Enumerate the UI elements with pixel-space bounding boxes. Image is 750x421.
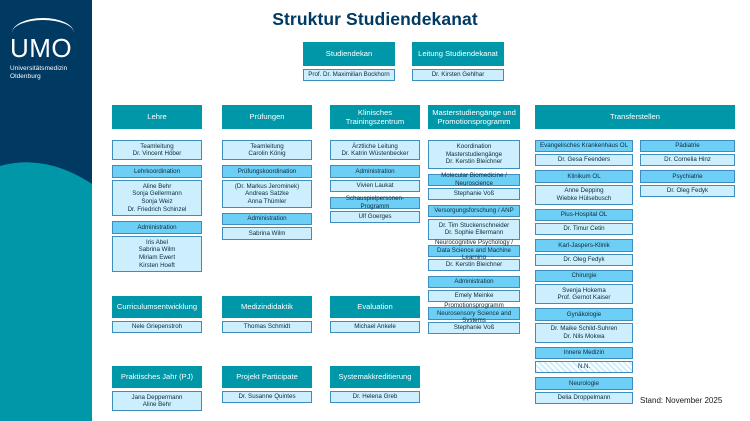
- transfer-left-9-label: Svenja Hokema Prof. Gernot Kaiser: [556, 287, 613, 302]
- logo-wordmark: UMO: [10, 35, 90, 62]
- transfer-left-12-label: Innere Medizin: [562, 349, 607, 357]
- transfer-left-2: Klinikum OL: [535, 170, 633, 182]
- col1-name-0: Teamleitung Carolin König: [222, 140, 312, 160]
- col3-name-2-label: Stephanie Voß: [452, 190, 497, 198]
- page-title: Struktur Studiendekanat: [0, 9, 750, 30]
- transfer-head-label: Transferstellen: [608, 112, 662, 121]
- col1-role-1-label: Prüfungskoordination: [236, 168, 298, 176]
- col1-section-name-1-label: Dr. Susanne Quintes: [236, 393, 297, 401]
- col3-role-3-label: Versorgungsforschung / ANP: [432, 207, 515, 215]
- transfer-right-3: Dr. Oleg Fedyk: [640, 185, 735, 197]
- col3-name-0: Koordination Masterstudiengänge Dr. Kers…: [428, 140, 520, 169]
- top-head-1: Leitung Studiendekanat: [412, 42, 504, 66]
- col3-role-3: Versorgungsforschung / ANP: [428, 205, 520, 217]
- transfer-left-11-label: Dr. Maike Schild-Suhren Dr. Nils Mokwa: [549, 325, 620, 340]
- col2-name-2: Vivien Laukat: [330, 180, 420, 192]
- col3-name-4-label: Dr. Tim Stuckenschneider Dr. Sophie Elle…: [437, 222, 512, 237]
- col2-name-0-label: Ärztliche Leitung Dr. Katrin Wüstenbecke…: [339, 143, 410, 158]
- transfer-left-6: Karl-Jaspers-Klinik: [535, 239, 633, 251]
- column-head-1: Prüfungen: [222, 105, 312, 129]
- brand-sidebar: UMO Universitätsmedizin Oldenburg: [0, 0, 92, 421]
- transfer-head: Transferstellen: [535, 105, 735, 129]
- col1-section-head-0-label: Medizindidaktik: [239, 302, 295, 311]
- transfer-left-5-label: Dr. Timur Cetin: [561, 225, 606, 233]
- col3-name-4: Dr. Tim Stuckenschneider Dr. Sophie Elle…: [428, 219, 520, 239]
- col2-section-head-0: Evaluation: [330, 296, 420, 318]
- col2-name-4: Ulf Goerges: [330, 211, 420, 223]
- col0-name-2: Aline Behr Sonja Gellermann Sonja Weiz D…: [112, 180, 202, 217]
- transfer-left-13: N.N.: [535, 361, 633, 373]
- col3-name-10-label: Stephanie Voß: [452, 324, 497, 332]
- column-head-1-label: Prüfungen: [247, 112, 286, 121]
- transfer-left-0-label: Evangelisches Krankenhaus OL: [538, 142, 630, 150]
- col2-role-1-label: Administration: [353, 168, 396, 176]
- col1-section-head-1: Projekt Participate: [222, 366, 312, 388]
- col0-role-1-label: Lehrkoordination: [132, 168, 182, 176]
- col1-role-1: Prüfungskoordination: [222, 165, 312, 177]
- col3-name-8: Emely Meinke: [428, 290, 520, 302]
- transfer-left-1-label: Dr. Gesa Feenders: [556, 156, 612, 164]
- col1-section-name-1: Dr. Susanne Quintes: [222, 391, 312, 403]
- transfer-left-15-label: Delia Droppelmann: [556, 394, 613, 402]
- col3-role-7: Administration: [428, 276, 520, 288]
- transfer-right-2: Psychiatrie: [640, 170, 735, 182]
- column-head-3-label: Masterstudiengänge und Promotionsprogram…: [428, 108, 520, 127]
- transfer-left-10: Gynäkologie: [535, 308, 633, 320]
- col0-name-4: Iris Abel Sabrina Wilm Miriam Ewert Kirs…: [112, 236, 202, 273]
- col3-role-5: Neurocognitive Psychology / Data Science…: [428, 245, 520, 257]
- col2-section-name-1-label: Dr. Helena Greb: [351, 393, 400, 401]
- transfer-right-3-label: Dr. Oleg Fedyk: [665, 187, 710, 195]
- column-head-0: Lehre: [112, 105, 202, 129]
- col0-section-name-1: Jana Deppermann Aline Behr: [112, 391, 202, 411]
- transfer-left-7: Dr. Oleg Fedyk: [535, 254, 633, 266]
- col2-role-1: Administration: [330, 165, 420, 177]
- col2-section-head-1-label: Systemakkreditierung: [336, 372, 413, 381]
- col3-role-1: Molecular Biomedicine / Neuroscience: [428, 174, 520, 186]
- sidebar-curve-decoration: [0, 140, 92, 421]
- col2-role-3-label: Schauspielpersonen-Programm: [331, 195, 419, 210]
- transfer-left-7-label: Dr. Oleg Fedyk: [561, 256, 606, 264]
- logo-subtitle-line1: Universitätsmedizin: [10, 65, 90, 73]
- col2-role-3: Schauspielpersonen-Programm: [330, 197, 420, 209]
- column-head-2: Klinisches Trainingszentrum: [330, 105, 420, 129]
- col2-name-2-label: Vivien Laukat: [354, 182, 395, 190]
- col0-name-0: Teamleitung Dr. Vincent Höber: [112, 140, 202, 160]
- col2-name-4-label: Ulf Goerges: [356, 213, 393, 221]
- transfer-left-3-label: Anne Depping Wiebke Hülsebusch: [555, 187, 614, 202]
- col3-name-10: Stephanie Voß: [428, 322, 520, 334]
- top-name-1: Dr. Kirsten Gehlhar: [412, 69, 504, 81]
- transfer-left-12: Innere Medizin: [535, 347, 633, 359]
- col0-section-name-1-label: Jana Deppermann Aline Behr: [130, 394, 185, 409]
- transfer-left-11: Dr. Maike Schild-Suhren Dr. Nils Mokwa: [535, 323, 633, 343]
- column-head-3: Masterstudiengänge und Promotionsprogram…: [428, 105, 520, 129]
- top-name-0: Prof. Dr. Maximilian Bockhorn: [303, 69, 395, 81]
- transfer-right-0: Pädiatrie: [640, 140, 735, 152]
- transfer-right-2-label: Psychiatrie: [670, 173, 704, 181]
- col2-section-name-0-label: Michael Ankele: [352, 323, 398, 331]
- col1-role-3-label: Administration: [245, 215, 288, 223]
- col3-name-6-label: Dr. Kerstin Bleichner: [444, 261, 504, 269]
- transfer-left-0: Evangelisches Krankenhaus OL: [535, 140, 633, 152]
- col1-name-2: (Dr. Markus Jerominek) Andreas Satzke An…: [222, 180, 312, 209]
- top-head-0-label: Studiendekan: [324, 49, 374, 58]
- col2-section-name-0: Michael Ankele: [330, 321, 420, 333]
- transfer-left-8-label: Chirurgie: [569, 272, 598, 280]
- col3-name-6: Dr. Kerstin Bleichner: [428, 259, 520, 271]
- col0-role-3-label: Administration: [135, 224, 178, 232]
- transfer-left-1: Dr. Gesa Feenders: [535, 154, 633, 166]
- transfer-left-4-label: Pius-Hospital OL: [559, 211, 609, 219]
- transfer-right-0-label: Pädiatrie: [673, 142, 701, 150]
- transfer-left-5: Dr. Timur Cetin: [535, 223, 633, 235]
- transfer-left-13-label: N.N.: [576, 363, 592, 371]
- col0-name-4-label: Iris Abel Sabrina Wilm Miriam Ewert Kirs…: [137, 239, 178, 269]
- col0-section-head-0: Curriculumsentwicklung: [112, 296, 202, 318]
- revision-date: Stand: November 2025: [640, 396, 722, 405]
- org-chart-slide: UMO Universitätsmedizin Oldenburg Strukt…: [0, 0, 750, 421]
- column-head-2-label: Klinisches Trainingszentrum: [330, 108, 420, 127]
- top-head-1-label: Leitung Studiendekanat: [416, 49, 500, 58]
- logo-subtitle-line2: Oldenburg: [10, 73, 90, 81]
- col3-name-8-label: Emely Meinke: [453, 292, 496, 300]
- col1-role-3: Administration: [222, 213, 312, 225]
- transfer-left-15: Delia Droppelmann: [535, 392, 633, 404]
- transfer-left-10-label: Gynäkologie: [565, 311, 603, 319]
- top-head-0: Studiendekan: [303, 42, 395, 66]
- column-head-0-label: Lehre: [145, 112, 168, 121]
- transfer-right-1-label: Dr. Cornelia Hinz: [662, 156, 713, 164]
- col1-name-4-label: Sabrina Wilm: [247, 230, 288, 238]
- transfer-left-6-label: Karl-Jaspers-Klinik: [556, 242, 612, 250]
- col3-name-2: Stephanie Voß: [428, 188, 520, 200]
- col0-section-head-1-label: Praktisches Jahr (PJ): [119, 372, 195, 381]
- col3-role-1-label: Molecular Biomedicine / Neuroscience: [429, 172, 519, 187]
- col0-section-name-0: Nele Griepenstroh: [112, 321, 202, 333]
- col3-role-7-label: Administration: [452, 278, 495, 286]
- col2-section-head-0-label: Evaluation: [355, 302, 394, 311]
- transfer-left-2-label: Klinikum OL: [565, 173, 602, 181]
- transfer-left-8: Chirurgie: [535, 270, 633, 282]
- col1-name-0-label: Teamleitung Carolin König: [246, 143, 287, 158]
- col1-section-name-0-label: Thomas Schmidt: [242, 323, 292, 331]
- col0-section-head-1: Praktisches Jahr (PJ): [112, 366, 202, 388]
- col1-name-2-label: (Dr. Markus Jerominek) Andreas Satzke An…: [233, 183, 301, 206]
- transfer-left-9: Svenja Hokema Prof. Gernot Kaiser: [535, 284, 633, 304]
- col0-name-0-label: Teamleitung Dr. Vincent Höber: [131, 143, 184, 158]
- top-name-1-label: Dr. Kirsten Gehlhar: [430, 71, 487, 79]
- col3-name-0-label: Koordination Masterstudiengänge Dr. Kers…: [444, 143, 504, 166]
- col0-section-name-0-label: Nele Griepenstroh: [130, 323, 184, 331]
- col1-section-name-0: Thomas Schmidt: [222, 321, 312, 333]
- col1-section-head-1-label: Projekt Participate: [234, 372, 300, 381]
- col2-section-head-1: Systemakkreditierung: [330, 366, 420, 388]
- col1-section-head-0: Medizindidaktik: [222, 296, 312, 318]
- transfer-left-3: Anne Depping Wiebke Hülsebusch: [535, 185, 633, 205]
- transfer-left-14: Neurologie: [535, 377, 633, 389]
- col2-section-name-1: Dr. Helena Greb: [330, 391, 420, 403]
- col3-role-9: Promotionsprogramm Neurosensory Science …: [428, 307, 520, 319]
- transfer-right-1: Dr. Cornelia Hinz: [640, 154, 735, 166]
- col0-role-3: Administration: [112, 221, 202, 233]
- col2-name-0: Ärztliche Leitung Dr. Katrin Wüstenbecke…: [330, 140, 420, 160]
- col0-name-2-label: Aline Behr Sonja Gellermann Sonja Weiz D…: [126, 183, 189, 213]
- col0-role-1: Lehrkoordination: [112, 165, 202, 177]
- col0-section-head-0-label: Curriculumsentwicklung: [115, 302, 199, 311]
- col1-name-4: Sabrina Wilm: [222, 227, 312, 239]
- transfer-left-14-label: Neurologie: [567, 380, 601, 388]
- top-name-0-label: Prof. Dr. Maximilian Bockhorn: [306, 71, 392, 79]
- transfer-left-4: Pius-Hospital OL: [535, 209, 633, 221]
